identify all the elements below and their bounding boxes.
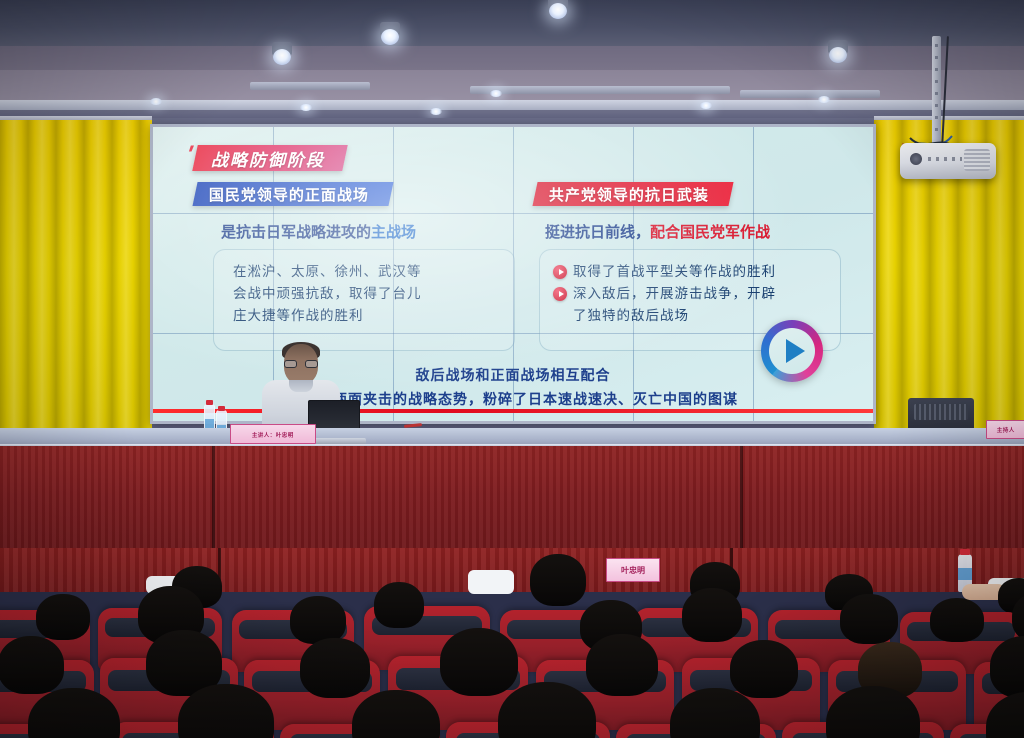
nameplate-host: 主持人 (986, 420, 1024, 439)
audience-head (840, 594, 898, 644)
slide-bullet-text: 深入敌后，开展游击战争，开辟 (573, 283, 776, 305)
slide-lead-right-plain: 挺进抗日前线， (545, 224, 650, 241)
spotlight-icon (828, 40, 848, 54)
downlight-icon (430, 108, 442, 115)
slide-bullet-text: 取得了首战平型关等作战的胜利 (573, 261, 776, 283)
slide-lead-right: 挺进抗日前线，配合国民党军作战 (545, 221, 770, 242)
audience-head (730, 640, 798, 698)
audience-head (300, 638, 370, 698)
slide-body-left: 在淞沪、太原、徐州、武汉等 会战中顽强抗敌，取得了台儿 庄大捷等作战的胜利 (233, 261, 503, 327)
audience-head (36, 594, 90, 640)
slide-body-right: 取得了首战平型关等作战的胜利 深入敌后，开展游击战争，开辟 了独特的敌后战场 (553, 261, 838, 327)
downlight-icon (700, 102, 712, 109)
audience-head (930, 598, 984, 642)
downlight-icon (150, 98, 162, 105)
slide-bullet-item: 取得了首战平型关等作战的胜利 (553, 261, 838, 283)
slide-lead-left-highlight: 主战场 (371, 224, 416, 241)
slide-column-banner-left-label: 国民党领导的正面战场 (209, 184, 369, 205)
stage-panel-seam (740, 446, 743, 556)
nameplate-host-label: 主持人 (997, 425, 1015, 433)
stage-curtain-left (0, 120, 152, 442)
ceiling-upper-band (0, 0, 1024, 46)
slide-column-banner-right-label: 共产党领导的抗日武装 (549, 184, 709, 205)
slide-lead-left-plain: 是抗击日军战略进攻的 (221, 224, 371, 241)
audience-head (440, 628, 518, 696)
spotlight-icon (272, 42, 292, 56)
slide-body-left-line: 庄大捷等作战的胜利 (233, 305, 503, 327)
ceiling-mid-band (0, 46, 1024, 70)
slide-lead-left: 是抗击日军战略进攻的主战场 (221, 221, 416, 242)
projected-slide: ' 战略防御阶段 国民党领导的正面战场 共产党领导的抗日武装 是抗击日军战略进攻… (153, 127, 873, 421)
presenter-collar (289, 380, 313, 392)
slide-column-banner-right: 共产党领导的抗日武装 (532, 182, 733, 206)
slide-conclusion-line-1: 敌后战场和正面战场相互配合 (153, 365, 873, 385)
slide-conclusion-line-2: 构成了两面夹击的战略态势，粉碎了日本速战速决、灭亡中国的图谋 (153, 389, 873, 409)
slide-bottom-accent-bar (153, 409, 873, 413)
audience-head (290, 596, 346, 644)
audience-area: 叶忠明 (0, 548, 1024, 738)
audience-head (0, 636, 64, 694)
arrow-bullet-icon (553, 265, 567, 279)
downlight-icon (818, 96, 830, 103)
slide-body-left-line: 在淞沪、太原、徐州、武汉等 (233, 261, 503, 283)
eyeglasses-icon (284, 360, 318, 368)
downlight-icon (490, 90, 502, 97)
slide-stage-title: 战略防御阶段 (211, 146, 325, 171)
audience-head (586, 634, 658, 696)
lecture-hall-photo: ' 战略防御阶段 国民党领导的正面战场 共产党领导的抗日武装 是抗击日军战略进攻… (0, 0, 1024, 738)
ceiling-light-strip (470, 86, 730, 94)
slide-stage-title-banner: 战略防御阶段 (192, 145, 348, 171)
play-icon (786, 339, 805, 363)
spotlight-icon (380, 22, 400, 36)
projector-indicator-lights (928, 157, 962, 161)
audience-head (374, 582, 424, 628)
stage-front-panel (0, 446, 1024, 556)
audience-sleeve (468, 570, 514, 594)
slide-lead-right-highlight: 配合国民党军作战 (650, 224, 770, 241)
projector-lens-icon (910, 153, 922, 165)
slide-column-banner-left: 国民党领导的正面战场 (192, 182, 393, 206)
slide-bullet-item: 深入敌后，开展游击战争，开辟 (553, 283, 838, 305)
downlight-icon (300, 104, 312, 111)
audience-name-card: 叶忠明 (606, 558, 660, 582)
audience-head (682, 588, 742, 642)
spotlight-icon (548, 0, 568, 10)
stage-panel-seam (212, 446, 215, 556)
ceiling-projector (900, 143, 996, 179)
arrow-bullet-icon (553, 287, 567, 301)
ceiling-light-strip (250, 82, 370, 90)
ceiling-light-strip (740, 90, 880, 98)
projection-screen: ' 战略防御阶段 国民党领导的正面战场 共产党领导的抗日武装 是抗击日军战略进攻… (150, 124, 876, 424)
projector-vent (964, 149, 990, 171)
nameplate-speaker: 主讲人：叶忠明 (230, 424, 316, 444)
audience-name-card-label: 叶忠明 (621, 565, 645, 576)
speaker-box (908, 398, 974, 432)
audience-head (530, 554, 586, 606)
slide-body-left-line: 会战中顽强抗敌，取得了台儿 (233, 283, 503, 305)
nameplate-speaker-label: 主讲人：叶忠明 (252, 430, 294, 438)
